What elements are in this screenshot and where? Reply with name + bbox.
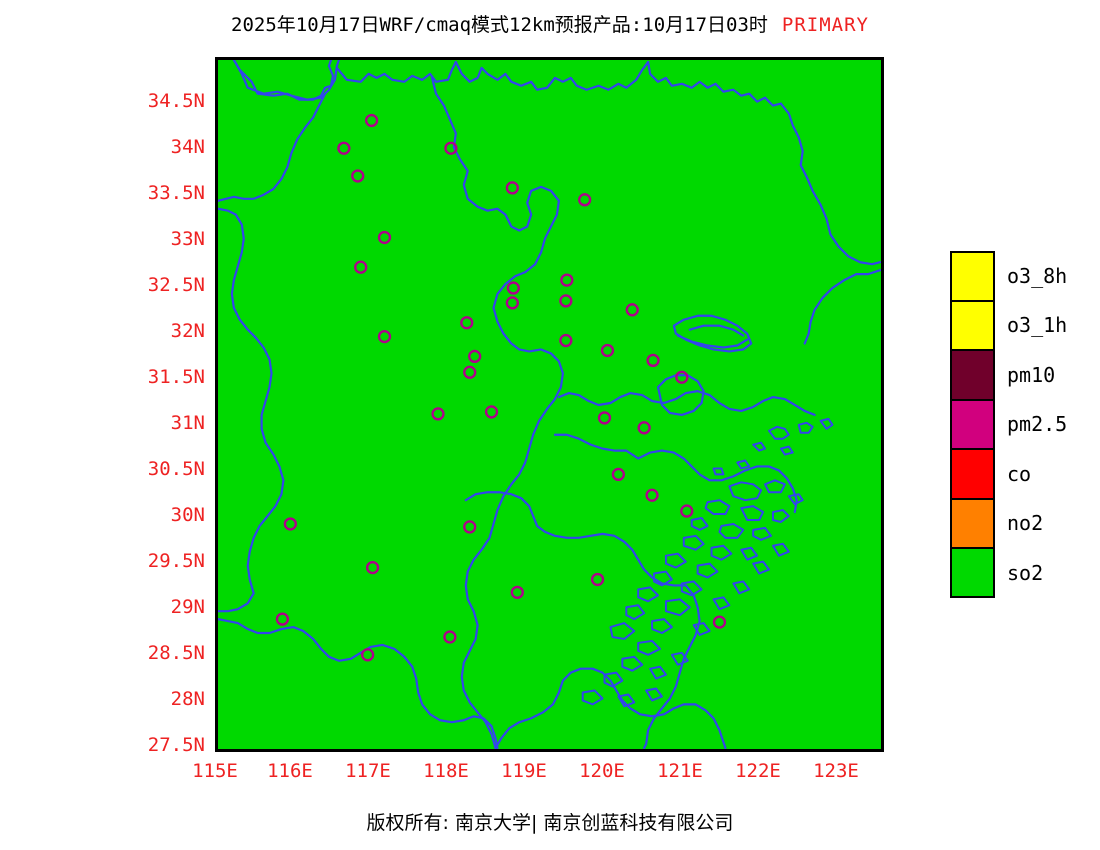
legend-swatch-so2 bbox=[950, 548, 995, 598]
legend-swatch-pm10 bbox=[950, 350, 995, 400]
y-axis-label: 28N bbox=[85, 688, 205, 710]
y-axis-label: 34.5N bbox=[85, 90, 205, 112]
copyright-footer: 版权所有: 南京大学| 南京创蓝科技有限公司 bbox=[0, 808, 1100, 835]
map-canvas[interactable] bbox=[215, 57, 884, 752]
y-axis-label: 31N bbox=[85, 412, 205, 434]
legend-item-o3-1h[interactable]: o3_1h bbox=[950, 301, 1067, 351]
legend-item-o3-8h[interactable]: o3_8h bbox=[950, 251, 1067, 301]
legend-label-o3-8h: o3_8h bbox=[1007, 266, 1067, 286]
page-title: 2025年10月17日WRF/cmaq模式12km预报产品:10月17日03时P… bbox=[0, 10, 1100, 37]
y-axis-label: 30.5N bbox=[85, 458, 205, 480]
title-primary-tag: PRIMARY bbox=[782, 14, 869, 36]
y-axis-label: 32.5N bbox=[85, 274, 205, 296]
y-axis-label: 27.5N bbox=[85, 734, 205, 756]
legend-item-co[interactable]: co bbox=[950, 449, 1067, 499]
x-axis-label: 123E bbox=[776, 760, 896, 782]
y-axis-labels: 34.5N 34N 33.5N 33N 32.5N 32N 31.5N 31N … bbox=[85, 57, 205, 752]
pollutant-legend: o3_8h o3_1h pm10 pm2.5 co no2 so2 bbox=[950, 251, 1067, 598]
legend-swatch-co bbox=[950, 449, 995, 499]
y-axis-label: 34N bbox=[85, 136, 205, 158]
legend-swatch-o3-1h bbox=[950, 301, 995, 351]
legend-swatch-pm25 bbox=[950, 400, 995, 450]
y-axis-label: 30N bbox=[85, 504, 205, 526]
title-main-text: 2025年10月17日WRF/cmaq模式12km预报产品:10月17日03时 bbox=[231, 14, 768, 36]
y-axis-label: 33.5N bbox=[85, 182, 205, 204]
y-axis-label: 32N bbox=[85, 320, 205, 342]
legend-label-pm10: pm10 bbox=[1007, 365, 1055, 385]
legend-swatch-no2 bbox=[950, 499, 995, 549]
map-vector-layer bbox=[218, 60, 881, 749]
y-axis-label: 28.5N bbox=[85, 642, 205, 664]
legend-label-so2: so2 bbox=[1007, 563, 1043, 583]
legend-item-pm25[interactable]: pm2.5 bbox=[950, 400, 1067, 450]
legend-label-o3-1h: o3_1h bbox=[1007, 315, 1067, 335]
y-axis-label: 33N bbox=[85, 228, 205, 250]
y-axis-label: 31.5N bbox=[85, 366, 205, 388]
y-axis-label: 29.5N bbox=[85, 550, 205, 572]
legend-item-so2[interactable]: so2 bbox=[950, 548, 1067, 598]
legend-item-pm10[interactable]: pm10 bbox=[950, 350, 1067, 400]
legend-label-pm25: pm2.5 bbox=[1007, 414, 1067, 434]
legend-item-no2[interactable]: no2 bbox=[950, 499, 1067, 549]
legend-label-co: co bbox=[1007, 464, 1031, 484]
legend-label-no2: no2 bbox=[1007, 513, 1043, 533]
x-axis-labels: 115E 116E 117E 118E 119E 120E 121E 122E … bbox=[215, 760, 884, 790]
legend-swatch-o3-8h bbox=[950, 251, 995, 301]
y-axis-label: 29N bbox=[85, 596, 205, 618]
